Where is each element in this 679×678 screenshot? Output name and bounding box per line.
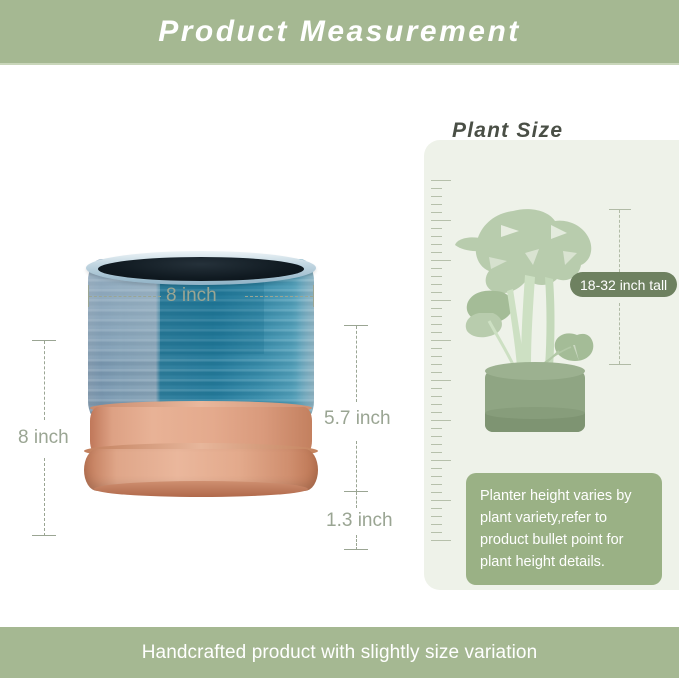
ruler-tick bbox=[431, 468, 442, 469]
footer-text: Handcrafted product with slightly size v… bbox=[142, 642, 538, 664]
ruler-tick bbox=[431, 492, 442, 493]
ruler-tick bbox=[431, 252, 442, 253]
illustration-pot-rim bbox=[485, 362, 585, 380]
ruler-tick bbox=[431, 356, 442, 357]
page-title: Product Measurement bbox=[158, 15, 521, 49]
width-dimension-cap-right bbox=[313, 285, 314, 307]
ruler-tick bbox=[431, 476, 442, 477]
ruler-tick bbox=[431, 532, 442, 533]
ruler-tick bbox=[431, 196, 442, 197]
width-dimension-line-right bbox=[245, 296, 313, 297]
width-dimension-label: 8 inch bbox=[166, 285, 217, 307]
body-height-dimension-line-top bbox=[356, 326, 357, 402]
ruler-tick bbox=[431, 428, 442, 429]
ruler-tick bbox=[431, 444, 442, 445]
ruler-tick bbox=[431, 420, 451, 421]
body-height-dimension-line-bottom bbox=[356, 441, 357, 492]
saucer-bottom-edge bbox=[94, 481, 308, 497]
ruler-tick bbox=[431, 236, 442, 237]
ruler-tick bbox=[431, 340, 451, 341]
stem-right bbox=[545, 277, 555, 367]
ruler-tick bbox=[431, 268, 442, 269]
ruler-tick bbox=[431, 412, 442, 413]
ruler-tick bbox=[431, 332, 442, 333]
plant-height-dimension-line-bottom bbox=[619, 303, 620, 364]
plant-height-note: Planter height varies by plant variety,r… bbox=[466, 473, 662, 585]
saucer-height-dimension-label: 1.3 inch bbox=[326, 510, 393, 532]
plant-height-dimension-line-top bbox=[619, 210, 620, 272]
saucer-height-dimension-line-bottom bbox=[356, 535, 357, 550]
ruler-tick bbox=[431, 180, 451, 181]
ruler-tick bbox=[431, 452, 442, 453]
ruler-tick bbox=[431, 348, 442, 349]
stem-center bbox=[521, 275, 535, 367]
header-banner: Product Measurement bbox=[0, 0, 679, 65]
ruler-tick bbox=[431, 324, 442, 325]
planter-interior bbox=[98, 257, 304, 281]
ruler-tick bbox=[431, 260, 451, 261]
vertical-ruler bbox=[431, 180, 453, 550]
ruler-tick bbox=[431, 276, 442, 277]
illustration-saucer-top-edge bbox=[485, 407, 585, 419]
height-dimension-label: 8 inch bbox=[18, 427, 69, 449]
plant-height-badge: 18-32 inch tall bbox=[570, 272, 677, 297]
ruler-tick bbox=[431, 460, 451, 461]
ruler-tick bbox=[431, 372, 442, 373]
ruler-tick bbox=[431, 436, 442, 437]
ruler-tick bbox=[431, 244, 442, 245]
ruler-tick bbox=[431, 228, 442, 229]
ruler-tick bbox=[431, 516, 442, 517]
illustration-pot-group bbox=[485, 362, 585, 432]
ruler-tick bbox=[431, 380, 451, 381]
ruler-tick bbox=[431, 396, 442, 397]
plant-height-dimension-cap-bottom bbox=[609, 364, 631, 365]
leaf-left-pointed bbox=[455, 237, 489, 251]
ruler-tick bbox=[431, 524, 442, 525]
body-height-dimension-label: 5.7 inch bbox=[324, 408, 391, 430]
ruler-tick bbox=[431, 212, 442, 213]
ruler-tick bbox=[431, 540, 451, 541]
saucer-height-dimension-line-top bbox=[356, 492, 357, 508]
ruler-tick bbox=[431, 220, 451, 221]
ruler-tick bbox=[431, 300, 451, 301]
ruler-tick bbox=[431, 388, 442, 389]
plant-height-dimension-cap-top bbox=[609, 209, 631, 210]
ruler-tick bbox=[431, 404, 442, 405]
footer-banner: Handcrafted product with slightly size v… bbox=[0, 627, 679, 678]
ruler-tick bbox=[431, 364, 442, 365]
height-dimension-line-top bbox=[44, 341, 45, 420]
ruler-tick bbox=[431, 500, 451, 501]
ruler-tick bbox=[431, 204, 442, 205]
ruler-tick bbox=[431, 316, 442, 317]
ruler-tick bbox=[431, 484, 442, 485]
width-dimension-line-left bbox=[89, 296, 161, 297]
ruler-tick bbox=[431, 292, 442, 293]
ruler-tick bbox=[431, 308, 442, 309]
stem-lower-left bbox=[489, 321, 515, 369]
height-dimension-line-bottom bbox=[44, 458, 45, 536]
plant-size-title: Plant Size bbox=[452, 119, 563, 143]
ruler-tick bbox=[431, 508, 442, 509]
ruler-tick bbox=[431, 284, 442, 285]
product-photo-region: 8 inch 8 inch 5.7 inch 1.3 inch bbox=[0, 63, 420, 627]
ruler-tick bbox=[431, 188, 442, 189]
plant-illustration bbox=[455, 195, 615, 440]
